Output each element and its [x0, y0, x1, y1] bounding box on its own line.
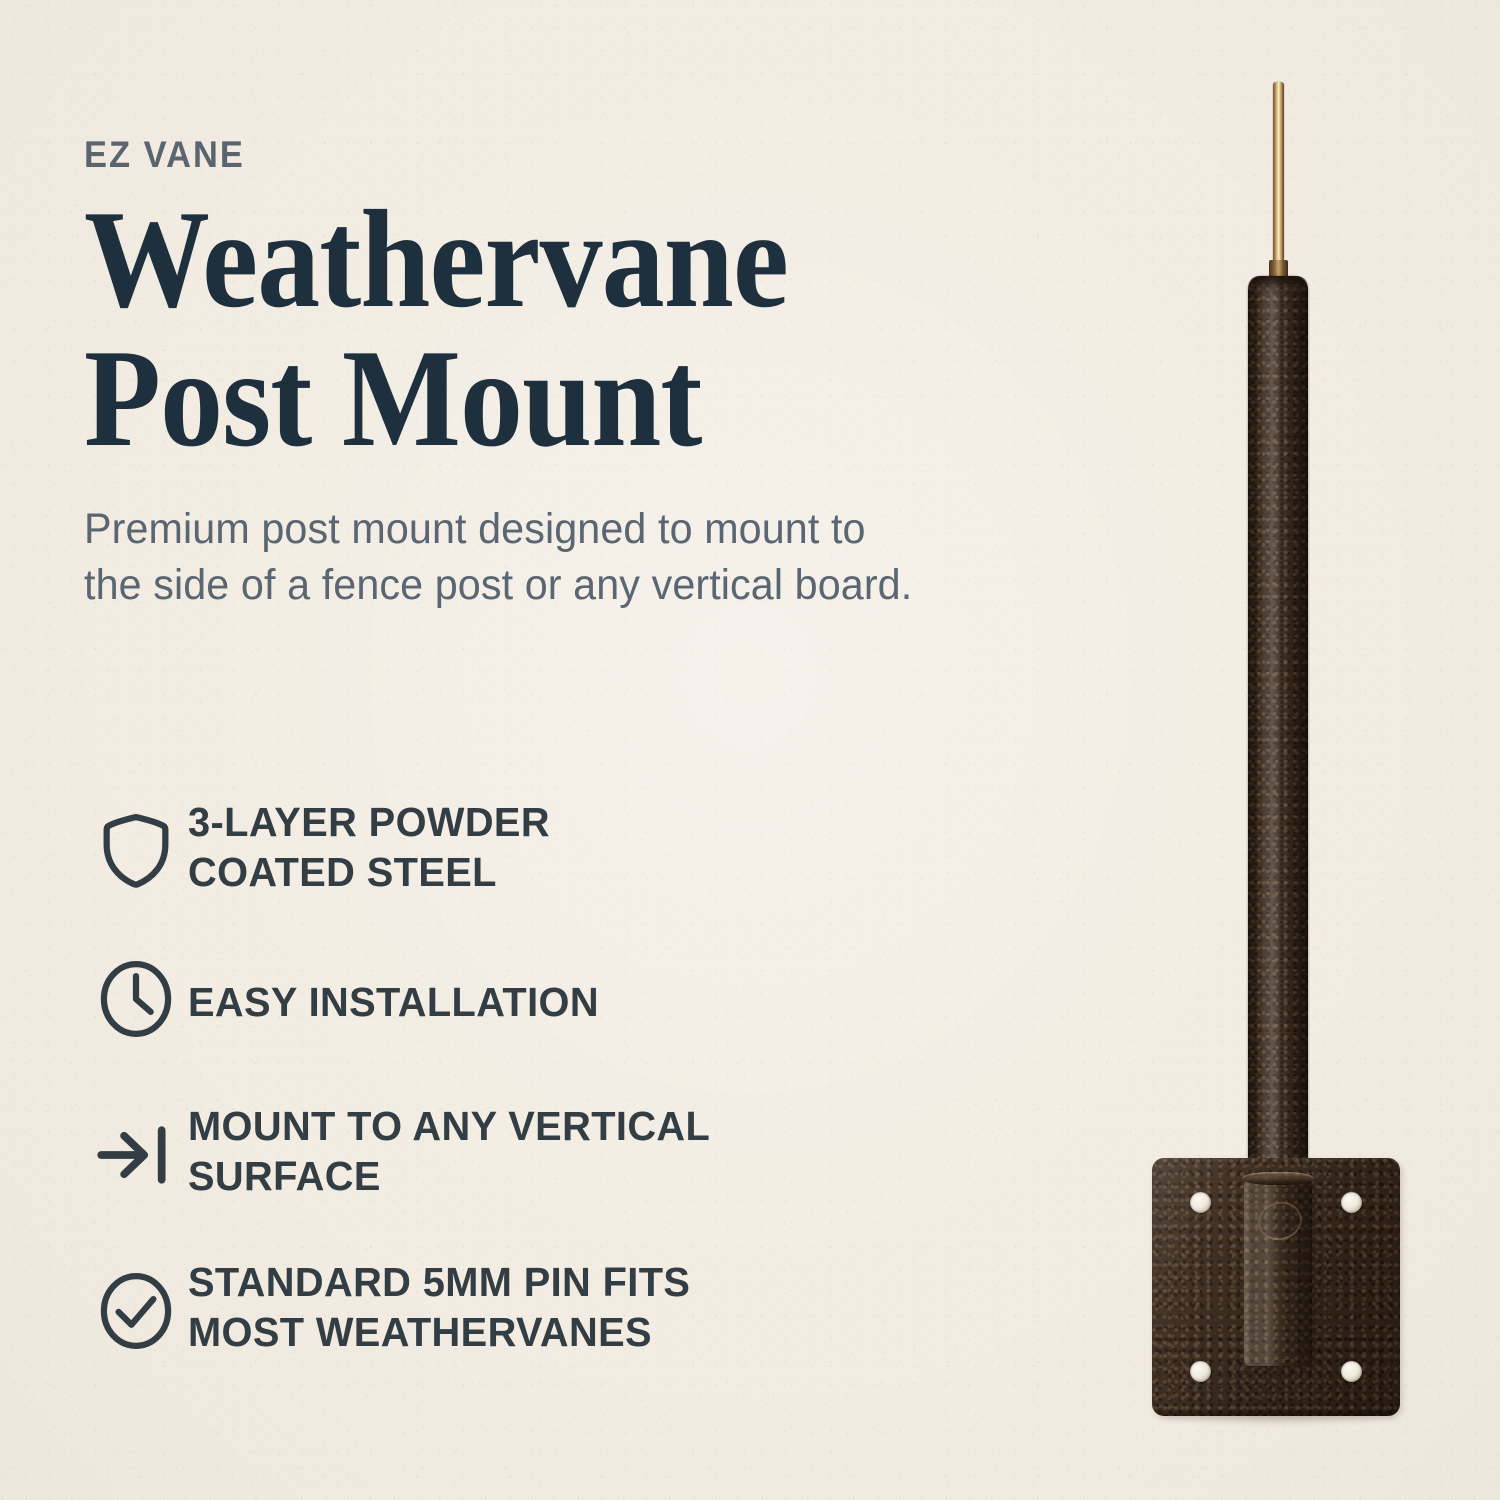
- feature-item-powder-coated-steel: 3-LAYER POWDER COATED STEEL: [84, 795, 944, 903]
- sleeve-lip: [1242, 1172, 1314, 1185]
- check-circle-icon: [84, 1259, 188, 1363]
- feature-item-easy-installation: EASY INSTALLATION: [84, 951, 944, 1051]
- feature-item-standard-5mm-pin: STANDARD 5MM PIN FITS MOST WEATHERVANES: [84, 1255, 944, 1363]
- screw-hole: [1190, 1361, 1211, 1382]
- product-image: [1130, 60, 1430, 1440]
- post-top-cap: [1248, 276, 1308, 292]
- infographic-canvas: EZ VANE Weathervane Post Mount Premium p…: [0, 0, 1500, 1500]
- screw-hole: [1190, 1192, 1211, 1213]
- clock-icon: [84, 947, 188, 1051]
- brand-name: EZ VANE: [84, 136, 1023, 173]
- screw-hole: [1341, 1192, 1362, 1213]
- feature-item-mount-any-vertical-surface: MOUNT TO ANY VERTICAL SURFACE: [84, 1099, 944, 1207]
- feature-label: EASY INSTALLATION: [188, 951, 599, 1027]
- arrow-to-line-icon: [84, 1103, 188, 1207]
- feature-label: 3-LAYER POWDER COATED STEEL: [188, 795, 550, 897]
- feature-label: MOUNT TO ANY VERTICAL SURFACE: [188, 1099, 710, 1201]
- text-column: EZ VANE Weathervane Post Mount Premium p…: [84, 136, 1094, 614]
- subtitle: Premium post mount designed to mount to …: [84, 502, 1054, 614]
- shield-icon: [84, 799, 188, 903]
- page-title: Weathervane Post Mount: [84, 191, 993, 468]
- feature-list: 3-LAYER POWDER COATED STEEL EASY INSTALL…: [84, 795, 944, 1363]
- feature-label: STANDARD 5MM PIN FITS MOST WEATHERVANES: [188, 1255, 690, 1357]
- screw-hole: [1341, 1361, 1362, 1382]
